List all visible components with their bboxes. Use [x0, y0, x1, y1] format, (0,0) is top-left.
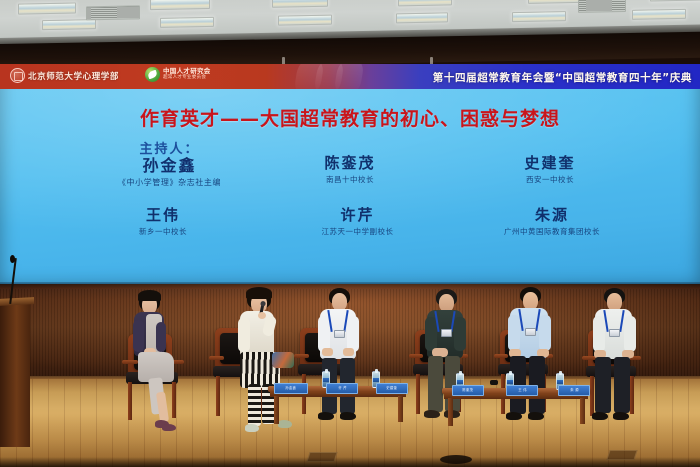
ceiling-light	[398, 0, 452, 6]
table-microphone	[490, 380, 498, 385]
name-badge	[525, 328, 536, 336]
name-card: 许 芹	[326, 383, 358, 394]
panelist-4: 朱源 广州中黄国际教育集团校长	[462, 204, 642, 237]
ceiling-light	[18, 3, 76, 15]
name-card-text: 陈銮茂	[463, 388, 474, 393]
name-badge	[441, 329, 452, 337]
panelist-name: 史建奎	[470, 152, 630, 173]
ceiling-light	[272, 0, 328, 8]
name-card: 孙金鑫	[274, 383, 308, 394]
logo-bnu-psychology: 北京师范大学心理学部	[10, 68, 119, 83]
name-card: 陈銮茂	[452, 385, 484, 396]
ceiling-vent	[86, 5, 140, 20]
name-card-text: 朱 源	[570, 388, 578, 393]
name-card-text: 许 芹	[338, 386, 346, 391]
name-badge	[609, 329, 620, 337]
panelist-role: 新乡一中校长	[78, 226, 248, 237]
ceiling-light	[396, 12, 448, 23]
ceiling-light	[650, 0, 700, 2]
host-role: 《中小学管理》杂志社主编	[62, 177, 277, 188]
panelist-2: 王伟 新乡一中校长	[78, 204, 248, 237]
logo-talent-primary: 中国人才研究会	[163, 68, 211, 75]
ceiling-light	[512, 11, 566, 22]
ceiling-light	[160, 17, 214, 28]
host-label: 主持人：	[62, 138, 277, 157]
panelist-3: 许芹 江苏天一中学副校长	[280, 204, 435, 237]
panelist-role: 西安一中校长	[470, 174, 630, 185]
host-name: 孙金鑫	[62, 157, 277, 176]
panelist-1: 史建奎 西安一中校长	[470, 152, 630, 185]
event-title: 第十四届超常教育年会暨“中国超常教育四十年”庆典	[433, 70, 692, 85]
microphone-icon	[10, 255, 15, 263]
name-card-text: 史建奎	[387, 386, 398, 391]
projection-screen: 北京师范大学心理学部 中国人才研究会 超常人才专业委员会 第十四届超常教育年会暨…	[0, 64, 700, 286]
name-card-text: 孙金鑫	[286, 386, 297, 391]
panelist-name: 陈銮茂	[275, 152, 425, 173]
logo-bnu-label: 北京师范大学心理学部	[28, 70, 119, 82]
ceiling-light	[632, 9, 686, 20]
logo-talent-society: 中国人才研究会 超常人才专业委员会	[145, 67, 211, 82]
panelist-name: 许芹	[280, 204, 435, 225]
panelist-name: 王伟	[78, 204, 248, 225]
ceiling-vent	[578, 0, 626, 13]
logo-talent-society-lines: 中国人才研究会 超常人才专业委员会	[163, 68, 211, 80]
slide-title: 作育英才——大国超常教育的初心、困惑与梦想	[0, 104, 700, 131]
conference-stage-photo: 北京师范大学心理学部 中国人才研究会 超常人才专业委员会 第十四届超常教育年会暨…	[0, 0, 700, 467]
ceiling-light	[278, 15, 332, 26]
panelist-role: 江苏天一中学副校长	[280, 226, 435, 237]
host-block: 主持人： 孙金鑫 《中小学管理》杂志社主编	[62, 138, 277, 188]
name-card: 王 伟	[506, 385, 538, 396]
logo-talent-secondary: 超常人才专业委员会	[163, 76, 211, 81]
name-card: 朱 源	[558, 385, 590, 396]
name-card-text: 王 伟	[518, 388, 526, 393]
panelist-role: 广州中黄国际教育集团校长	[462, 226, 642, 237]
foreground-gradient	[0, 457, 700, 467]
name-badge	[334, 330, 345, 338]
ceiling-light	[42, 19, 96, 30]
panelist-role: 南昌十中校长	[275, 174, 425, 185]
banner-wave	[333, 64, 365, 89]
seal-icon	[10, 68, 25, 83]
panelist-name: 朱源	[462, 204, 642, 225]
slide-banner: 北京师范大学心理学部 中国人才研究会 超常人才专业委员会 第十四届超常教育年会暨…	[0, 64, 700, 89]
ceiling-light	[150, 0, 210, 10]
lectern	[0, 300, 30, 447]
panelist-0: 陈銮茂 南昌十中校长	[275, 152, 425, 185]
leaf-icon	[145, 67, 160, 82]
name-card: 史建奎	[376, 383, 408, 394]
